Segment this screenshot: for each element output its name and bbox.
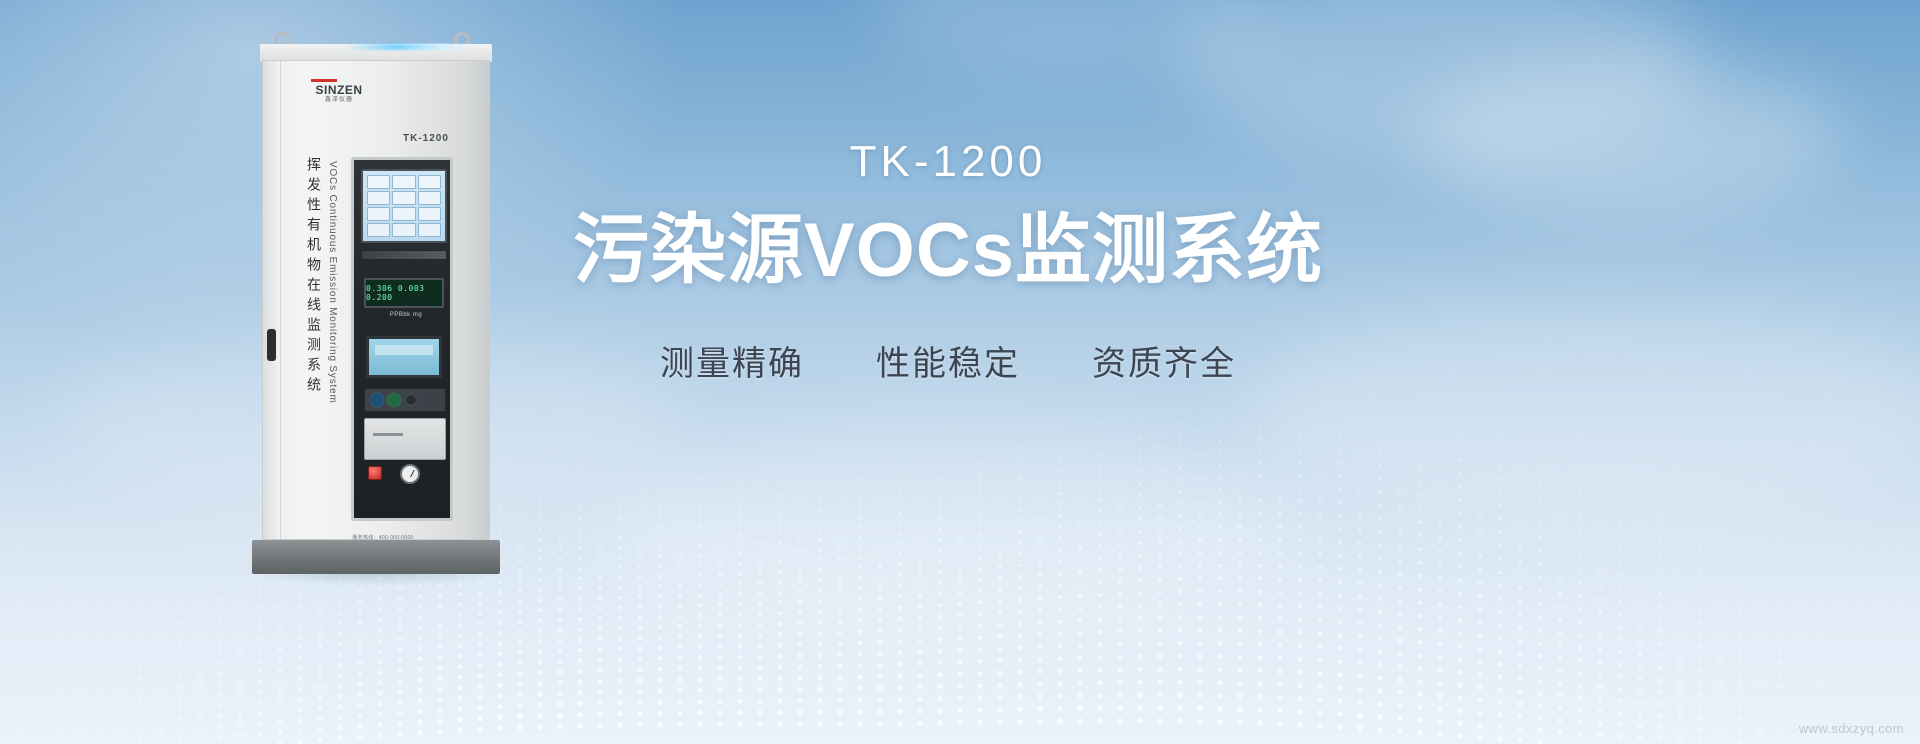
indicator-lamp-blue [371,394,383,406]
page-title: 污染源VOCs监测系统 [548,210,1348,292]
cabinet-highlight [344,44,472,50]
brand-name-cn: 鑫泽仪器 [299,97,379,103]
cabinet-left-panel [263,61,281,539]
digital-readout: 0.306 0.003 0.200 [364,278,444,308]
product-banner: SINZEN 鑫泽仪器 TK-1200 挥发性有机物在线监测系统 VOCs Co… [0,0,1920,744]
readout-units: PPBbk mg [374,312,438,318]
tagline-item: 性能稳定 [876,336,1020,385]
cabinet-vertical-text-en: VOCs Continuous Emission Monitoring Syst… [327,161,338,404]
module-strip [361,250,447,260]
instrument-window: 0.306 0.003 0.200 PPBbk mg VOCS ONLINE C… [351,157,453,521]
product-cabinet-image: SINZEN 鑫泽仪器 TK-1200 挥发性有机物在线监测系统 VOCs Co… [252,20,502,580]
tagline-item: 测量精确 [660,336,804,385]
control-row[interactable] [364,388,446,412]
site-watermark: www.sdxzyq.com [1799,721,1904,736]
lcd-panel [366,336,442,378]
cabinet-base-plinth [252,540,500,574]
hmi-touchscreen[interactable] [361,169,447,243]
brand-name: SINZEN [299,84,379,96]
pressure-gauge-icon [400,464,420,484]
cloud-shape [1420,60,1840,210]
brand-accent-bar [311,79,337,82]
tagline-list: 测量精确 性能稳定 资质齐全 [548,336,1348,385]
cabinet-door-handle[interactable] [267,329,276,361]
cabinet-model-plate: TK-1200 [403,133,449,144]
brand-logo: SINZEN 鑫泽仪器 [299,79,379,103]
emergency-stop-button[interactable] [368,466,382,480]
indicator-lamp-off [405,394,417,406]
cabinet-vertical-text-cn: 挥发性有机物在线监测系统 [299,157,321,397]
tagline-item: 资质齐全 [1092,336,1236,385]
banner-text-block: TK-1200 污染源VOCs监测系统 测量精确 性能稳定 资质齐全 [548,140,1348,385]
lower-service-panel [364,418,446,460]
product-model: TK-1200 [548,140,1348,184]
cabinet-body: SINZEN 鑫泽仪器 TK-1200 挥发性有机物在线监测系统 VOCs Co… [262,60,490,540]
indicator-lamp-green [388,394,400,406]
